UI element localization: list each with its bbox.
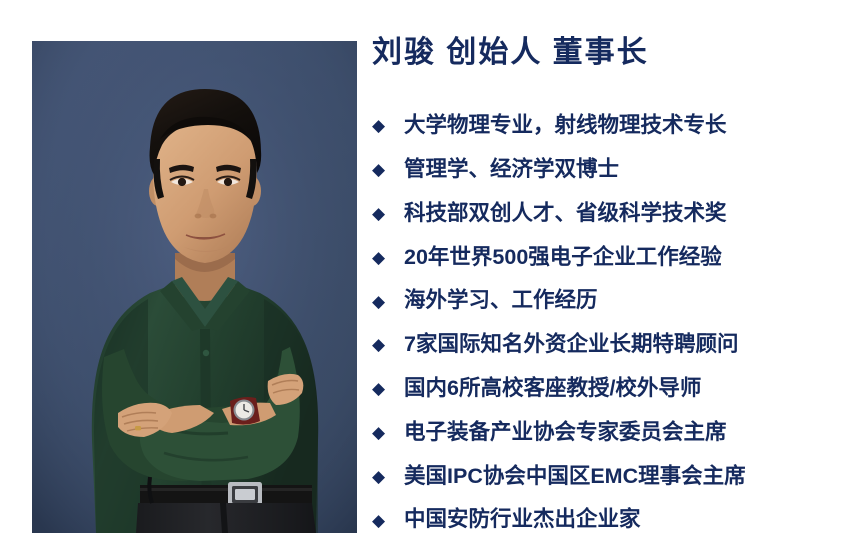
diamond-bullet-icon: ◆ <box>372 424 404 441</box>
list-item: ◆ 中国安防行业杰出企业家 <box>372 498 842 542</box>
diamond-bullet-icon: ◆ <box>372 117 404 134</box>
portrait-illustration <box>32 41 357 533</box>
diamond-bullet-icon: ◆ <box>372 293 404 310</box>
credential-text: 管理学、经济学双博士 <box>404 159 619 181</box>
slide-root: 刘骏 创始人 董事长 ◆ 大学物理专业，射线物理技术专长 ◆ 管理学、经济学双博… <box>0 0 860 547</box>
list-item: ◆ 科技部双创人才、省级科学技术奖 <box>372 192 842 236</box>
list-item: ◆ 管理学、经济学双博士 <box>372 148 842 192</box>
profile-text-column: 刘骏 创始人 董事长 ◆ 大学物理专业，射线物理技术专长 ◆ 管理学、经济学双博… <box>372 0 842 547</box>
belt <box>140 485 312 504</box>
credentials-list: ◆ 大学物理专业，射线物理技术专长 ◆ 管理学、经济学双博士 ◆ 科技部双创人才… <box>372 104 842 542</box>
credential-text: 科技部双创人才、省级科学技术奖 <box>404 203 727 225</box>
diamond-bullet-icon: ◆ <box>372 205 404 222</box>
credential-text: 中国安防行业杰出企业家 <box>404 509 641 531</box>
credential-text: 国内6所高校客座教授/校外导师 <box>404 378 701 400</box>
portrait-photo <box>32 41 357 533</box>
page-title: 刘骏 创始人 董事长 <box>372 38 649 68</box>
credential-text: 20年世界500强电子企业工作经验 <box>404 247 722 269</box>
diamond-bullet-icon: ◆ <box>372 161 404 178</box>
list-item: ◆ 国内6所高校客座教授/校外导师 <box>372 367 842 411</box>
list-item: ◆ 美国IPC协会中国区EMC理事会主席 <box>372 454 842 498</box>
diamond-bullet-icon: ◆ <box>372 336 404 353</box>
list-item: ◆ 海外学习、工作经历 <box>372 279 842 323</box>
diamond-bullet-icon: ◆ <box>372 512 404 529</box>
list-item: ◆ 大学物理专业，射线物理技术专长 <box>372 104 842 148</box>
credential-text: 电子装备产业协会专家委员会主席 <box>404 422 727 444</box>
diamond-bullet-icon: ◆ <box>372 468 404 485</box>
list-item: ◆ 7家国际知名外资企业长期特聘顾问 <box>372 323 842 367</box>
credential-text: 大学物理专业，射线物理技术专长 <box>404 115 727 137</box>
diamond-bullet-icon: ◆ <box>372 380 404 397</box>
credential-text: 7家国际知名外资企业长期特聘顾问 <box>404 334 738 356</box>
diamond-bullet-icon: ◆ <box>372 249 404 266</box>
credential-text: 美国IPC协会中国区EMC理事会主席 <box>404 466 746 488</box>
credential-text: 海外学习、工作经历 <box>404 290 598 312</box>
list-item: ◆ 20年世界500强电子企业工作经验 <box>372 235 842 279</box>
list-item: ◆ 电子装备产业协会专家委员会主席 <box>372 411 842 455</box>
